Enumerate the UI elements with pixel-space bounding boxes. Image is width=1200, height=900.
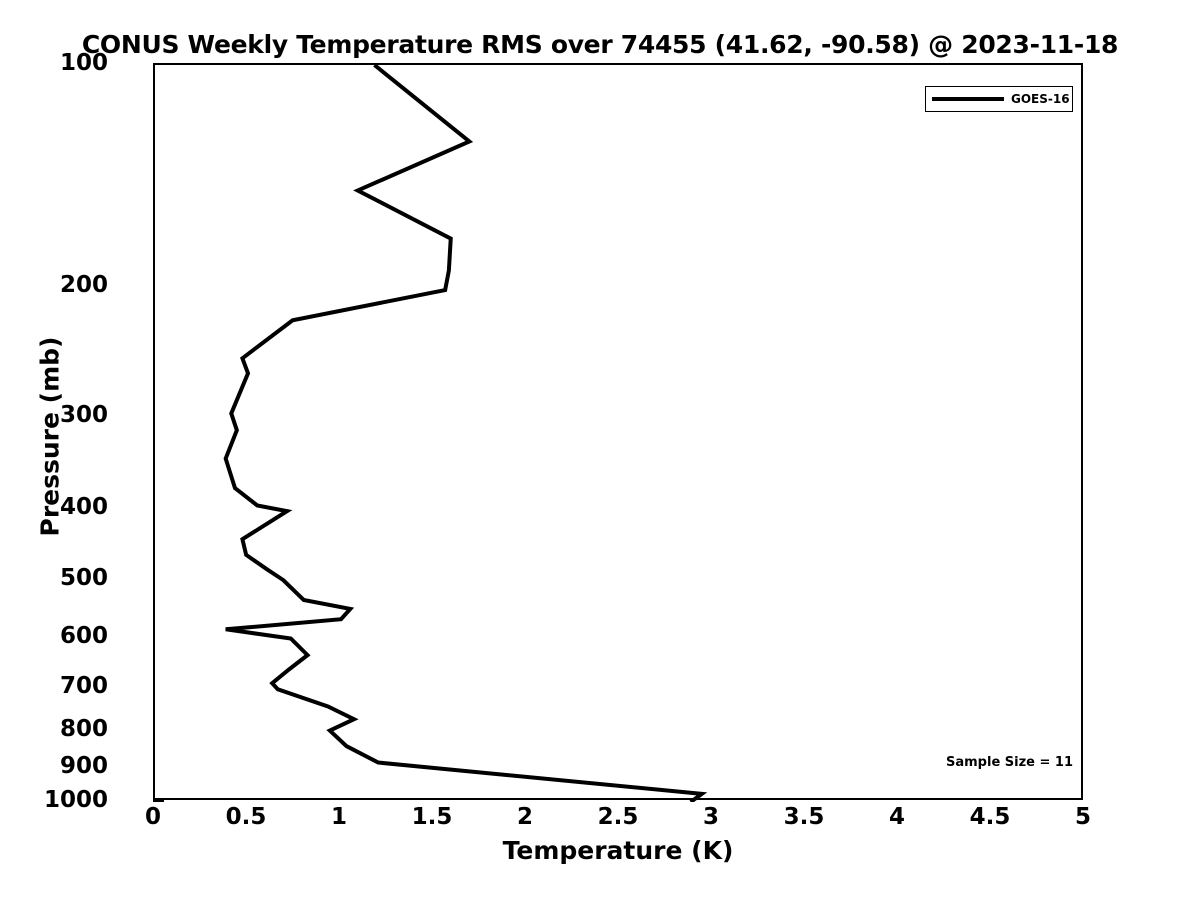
y-tick-label-900: 900 [0,753,108,779]
series-line-goes-16 [155,65,1085,802]
y-tick-label-1000: 1000 [0,787,108,813]
legend-swatch-goes-16 [932,97,1004,101]
x-tick-label-5: 5 [1023,804,1143,830]
y-tick-label-500: 500 [0,565,108,591]
y-tick-label-400: 400 [0,494,108,520]
sample-size-annotation: Sample Size = 11 [946,755,1073,770]
y-tick-label-700: 700 [0,673,108,699]
page-title: CONUS Weekly Temperature RMS over 74455 … [0,30,1200,59]
y-tick-label-300: 300 [0,402,108,428]
chart-page: CONUS Weekly Temperature RMS over 74455 … [0,0,1200,900]
legend-label-goes-16: GOES-16 [1011,92,1070,106]
x-axis-title: Temperature (K) [153,836,1083,865]
legend: GOES-16 [925,86,1073,112]
y-tick-label-600: 600 [0,623,108,649]
y-tick-label-800: 800 [0,716,108,742]
plot-area [153,63,1083,800]
y-tick-label-200: 200 [0,272,108,298]
y-tick-label-100: 100 [0,50,108,76]
